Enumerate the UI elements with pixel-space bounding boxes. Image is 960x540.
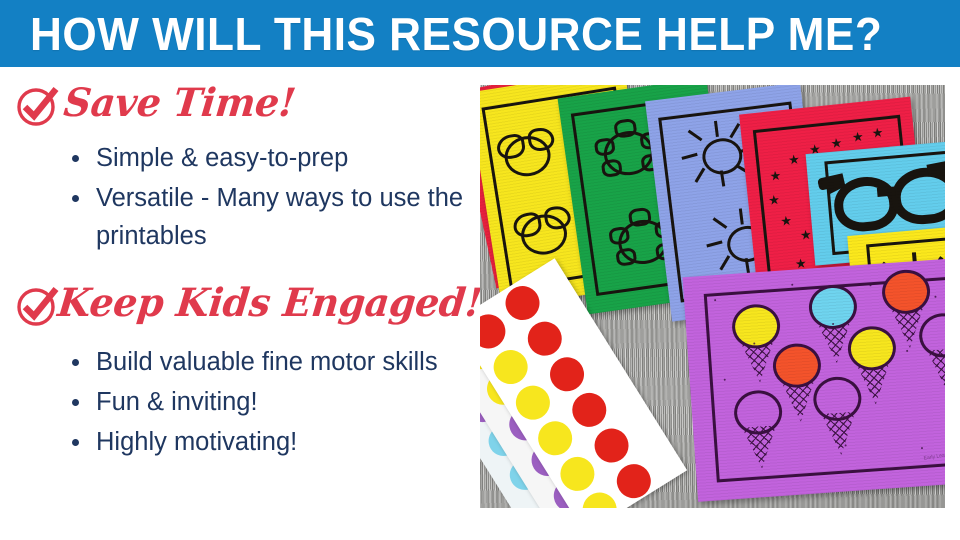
list-item-label: Build valuable fine motor skills	[96, 348, 438, 376]
page-title: HOW WILL THIS RESOURCE HELP ME?	[30, 6, 882, 62]
list-item: Highly motivating!	[0, 423, 480, 461]
check-circle-icon	[14, 82, 62, 130]
sunglasses-doodle	[831, 163, 945, 219]
benefit-heading-text: Save Time!	[61, 77, 298, 129]
bullet-dot-icon	[72, 155, 79, 162]
list-item-label: Versatile - Many ways to use the printab…	[96, 184, 463, 250]
product-photo: ★ ★ ★ ★ ★ ★ ★ ★ ★ ★ ★ ★ ★ ★ ★ ★ ★ ★	[480, 85, 945, 508]
benefit-block-save-time: Save Time! Simple & easy-to-prep Versati…	[0, 79, 480, 257]
list-item-label: Simple & easy-to-prep	[96, 144, 348, 172]
list-item: Versatile - Many ways to use the printab…	[0, 179, 480, 255]
benefit-bullet-list: Simple & easy-to-prep Versatile - Many w…	[0, 133, 480, 255]
bullet-dot-icon	[72, 195, 79, 202]
check-circle-icon	[14, 282, 62, 330]
card-purple-icecream: Early Learning Ideas	[683, 257, 945, 502]
cone-6	[918, 312, 945, 393]
benefits-column: Save Time! Simple & easy-to-prep Versati…	[0, 67, 480, 540]
slide-canvas: HOW WILL THIS RESOURCE HELP ME? Save Tim…	[0, 0, 960, 540]
header-bar: HOW WILL THIS RESOURCE HELP ME?	[0, 0, 960, 67]
cone-8	[812, 375, 865, 456]
bullet-dot-icon	[72, 399, 79, 406]
benefit-heading: Save Time!	[0, 79, 480, 133]
cone-7	[733, 389, 786, 470]
bullet-dot-icon	[72, 359, 79, 366]
list-item: Build valuable fine motor skills	[0, 343, 480, 381]
list-item-label: Fun & inviting!	[96, 388, 258, 416]
bee-doodle	[497, 127, 556, 181]
benefit-block-keep-kids-engaged: Keep Kids Engaged! Build valuable fine m…	[0, 279, 480, 463]
benefit-bullet-list: Build valuable fine motor skills Fun & i…	[0, 333, 480, 461]
list-item: Fun & inviting!	[0, 383, 480, 421]
benefit-heading-text: Keep Kids Engaged!	[55, 277, 484, 329]
bee-doodle	[513, 205, 572, 259]
benefit-heading: Keep Kids Engaged!	[0, 279, 480, 333]
list-item: Simple & easy-to-prep	[0, 139, 480, 177]
list-item-label: Highly motivating!	[96, 428, 297, 456]
bullet-dot-icon	[72, 439, 79, 446]
